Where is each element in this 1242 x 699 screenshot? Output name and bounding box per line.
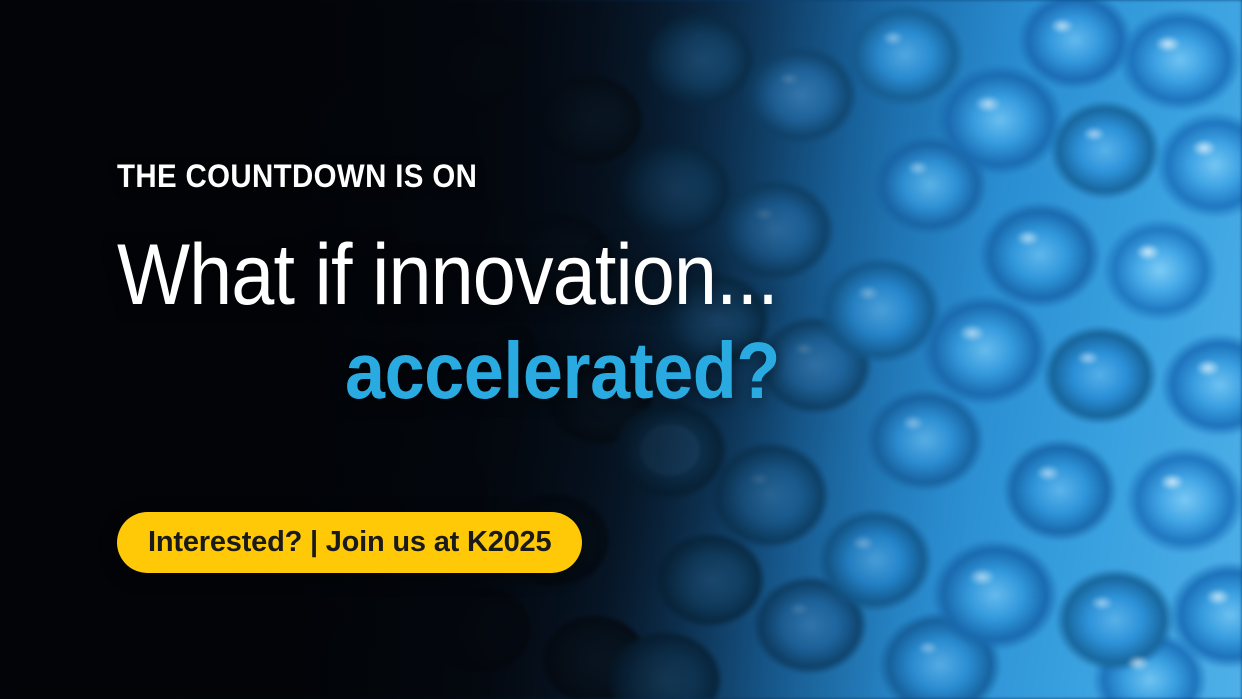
promotional-banner: THE COUNTDOWN IS ON What if innovation..… (0, 0, 1242, 699)
copy-block: THE COUNTDOWN IS ON What if innovation..… (117, 0, 937, 699)
headline-line-2-accent: accelerated? (345, 331, 780, 411)
eyebrow-text: THE COUNTDOWN IS ON (117, 160, 477, 192)
headline-line-1: What if innovation... (117, 232, 778, 318)
join-us-cta-button[interactable]: Interested? | Join us at K2025 (117, 512, 582, 573)
